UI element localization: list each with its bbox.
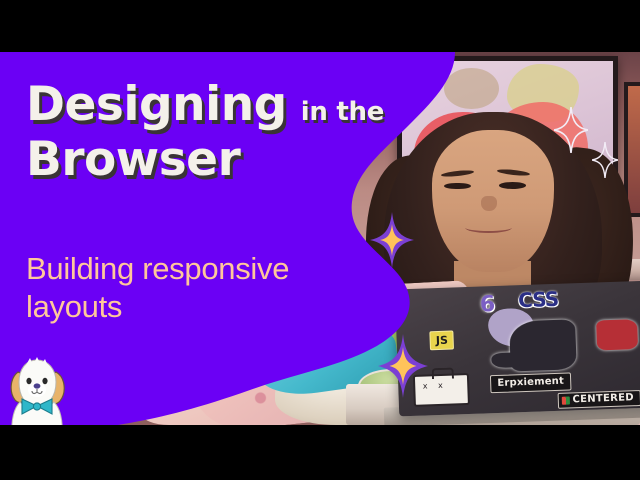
eye-right [499,182,526,189]
sticker-dinosaur [508,319,576,372]
subtitle: Building responsive layouts [26,250,356,327]
sticker-centered: CENTERED [557,390,640,409]
title-word-browser: Browser [26,132,240,187]
title-line-two: Browser [26,135,386,184]
video-thumbnail: 6 CSS JS Erpxiement CENTERED Designing i… [0,0,640,480]
artwork-shape-tan [444,68,499,109]
sparkle-mid-lower [378,334,428,402]
laptop-lid: 6 CSS JS Erpxiement CENTERED [395,281,640,417]
sparkle-top-right [554,107,588,157]
sticker-css: CSS [518,289,559,310]
title-line-one: Designing in the [26,80,386,129]
mouth [465,222,512,233]
sparkle-mid-upper [370,212,414,272]
sticker-six: 6 [479,294,495,317]
sticker-red-shape [596,319,638,351]
video-frame: 6 CSS JS Erpxiement CENTERED Designing i… [0,52,640,425]
letterbox-bar-top [0,0,640,52]
nose [481,196,496,211]
sticker-js: JS [429,331,454,351]
dog-logo [4,356,76,425]
sparkle-far-right [592,142,618,182]
title-block: Designing in the Browser [26,80,386,185]
title-word-designing: Designing [26,80,287,129]
sticker-erpxiement: Erpxiement [490,372,571,393]
letterbox-bar-bottom [0,425,640,480]
title-word-in-the: in the [301,97,384,127]
